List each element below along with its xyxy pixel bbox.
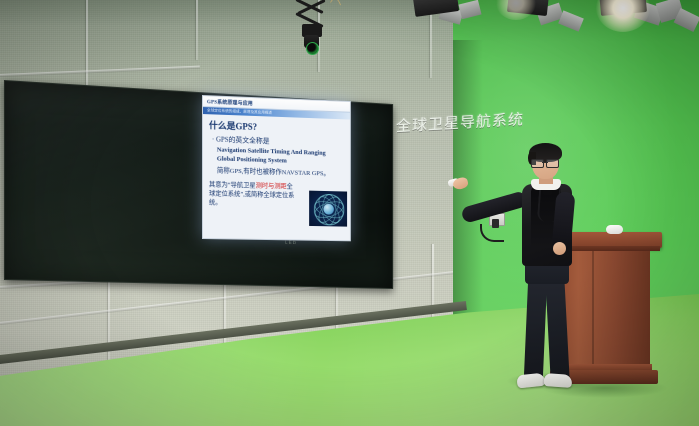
ceiling-camera-rig <box>288 0 348 54</box>
studio-scene: 全球卫星导航系统 GPS系统原理与应用 全球定位系统的组成、原理及其应用概述 什… <box>0 0 699 426</box>
display-brand-logo: LED <box>280 240 302 247</box>
slide-header-title: GPS系统原理与应用 <box>207 98 253 107</box>
slide-paragraph: 其意为“导航卫星测时与测距全球定位系统”,或简称全球定位系统。 <box>209 180 299 209</box>
slide-paragraph-pre: 其意为“导航卫星 <box>209 181 256 189</box>
slide-bullet-text: GPS的英文全称是 <box>216 135 270 145</box>
wall-seam <box>196 0 198 60</box>
lens-right <box>546 159 559 168</box>
presenter-leg-right <box>545 278 569 381</box>
presenter-shoe-right <box>544 373 573 388</box>
presenter-shoe-left <box>516 373 545 389</box>
green-screen-corner-shadow <box>453 40 483 340</box>
presenter-hand-right <box>553 242 566 255</box>
presenter-leg-left <box>524 278 547 381</box>
device-on-podium <box>606 225 623 234</box>
ceiling-shade <box>0 0 468 26</box>
satellite-orbit-globe-icon <box>309 191 347 227</box>
eyeglasses-icon <box>531 159 559 166</box>
presenter-microphone-icon <box>542 190 553 195</box>
slide-title: 什么是GPS? <box>209 118 345 136</box>
slide-paragraph-highlight: 测时与测距 <box>256 183 287 191</box>
camera-cable <box>326 0 344 26</box>
projected-slide: GPS系统原理与应用 全球定位系统的组成、原理及其应用概述 什么是GPS? · … <box>202 95 351 241</box>
presenter <box>498 146 594 392</box>
camera-lens-icon <box>306 42 319 55</box>
lens-left <box>531 159 544 168</box>
earth-globe-icon <box>323 203 333 214</box>
